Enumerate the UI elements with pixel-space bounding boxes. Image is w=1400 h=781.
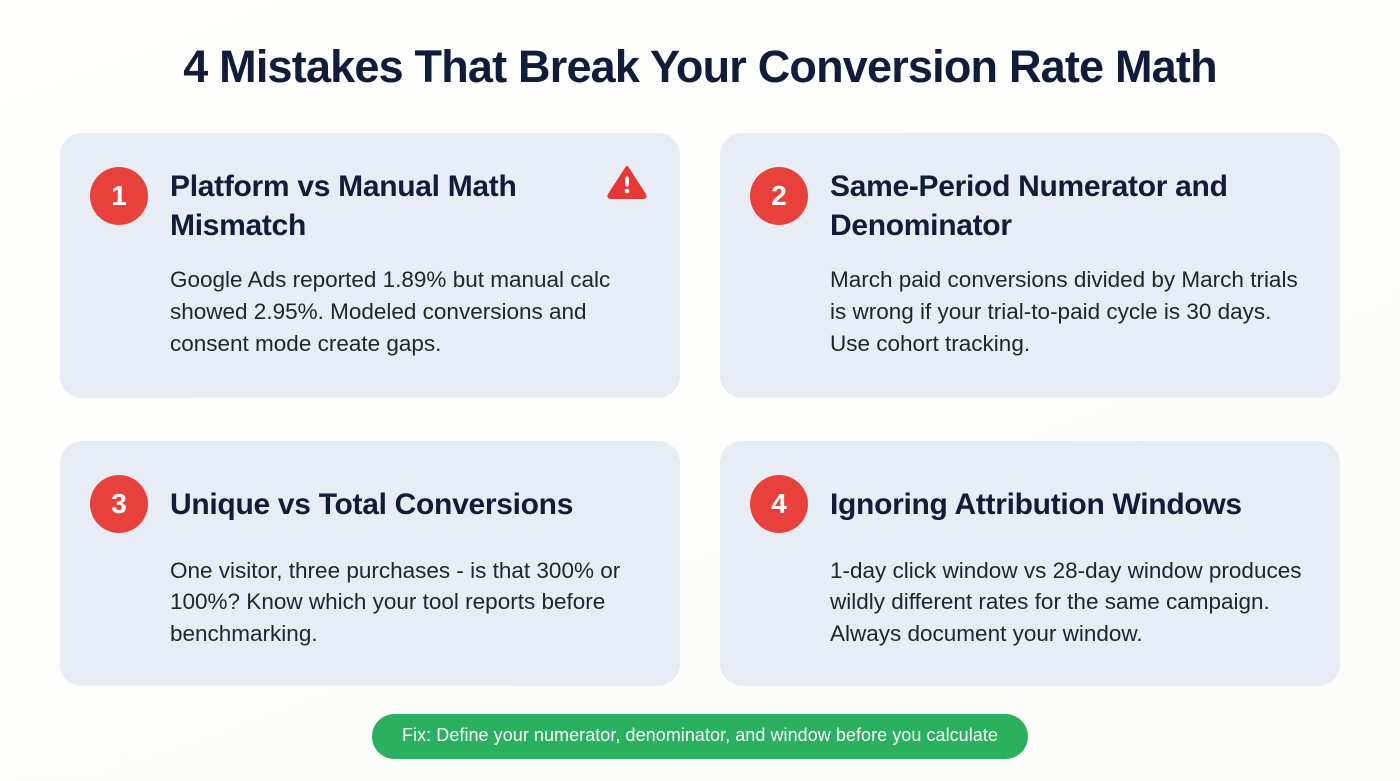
- card-header: 4 Ignoring Attribution Windows: [750, 473, 1304, 533]
- warning-triangle-icon: [606, 161, 648, 203]
- card-header: 1 Platform vs Manual Math Mismatch: [90, 165, 644, 246]
- card-body-text: March paid conversions divided by March …: [830, 264, 1304, 360]
- infographic-page: 4 Mistakes That Break Your Conversion Ra…: [0, 0, 1400, 781]
- mistake-card-4: 4 Ignoring Attribution Windows 1-day cli…: [720, 441, 1340, 686]
- card-number-badge: 1: [90, 167, 148, 225]
- card-header: 3 Unique vs Total Conversions: [90, 473, 644, 533]
- card-title: Unique vs Total Conversions: [170, 473, 644, 525]
- card-number-badge: 3: [90, 475, 148, 533]
- mistake-card-1: 1 Platform vs Manual Math Mismatch Googl…: [60, 133, 680, 398]
- mistake-card-grid: 1 Platform vs Manual Math Mismatch Googl…: [60, 133, 1340, 686]
- card-body-text: One visitor, three purchases - is that 3…: [170, 555, 644, 651]
- footer-container: Fix: Define your numerator, denominator,…: [0, 714, 1400, 759]
- card-number-badge: 2: [750, 167, 808, 225]
- card-body-text: 1-day click window vs 28-day window prod…: [830, 555, 1304, 651]
- page-title: 4 Mistakes That Break Your Conversion Ra…: [60, 0, 1340, 92]
- card-title: Platform vs Manual Math Mismatch: [170, 165, 644, 246]
- card-title: Ignoring Attribution Windows: [830, 473, 1304, 525]
- card-title: Same-Period Numerator and Denominator: [830, 165, 1304, 246]
- card-header: 2 Same-Period Numerator and Denominator: [750, 165, 1304, 246]
- fix-summary-pill: Fix: Define your numerator, denominator,…: [372, 714, 1028, 759]
- mistake-card-2: 2 Same-Period Numerator and Denominator …: [720, 133, 1340, 398]
- mistake-card-3: 3 Unique vs Total Conversions One visito…: [60, 441, 680, 686]
- card-body-text: Google Ads reported 1.89% but manual cal…: [170, 264, 644, 360]
- card-number-badge: 4: [750, 475, 808, 533]
